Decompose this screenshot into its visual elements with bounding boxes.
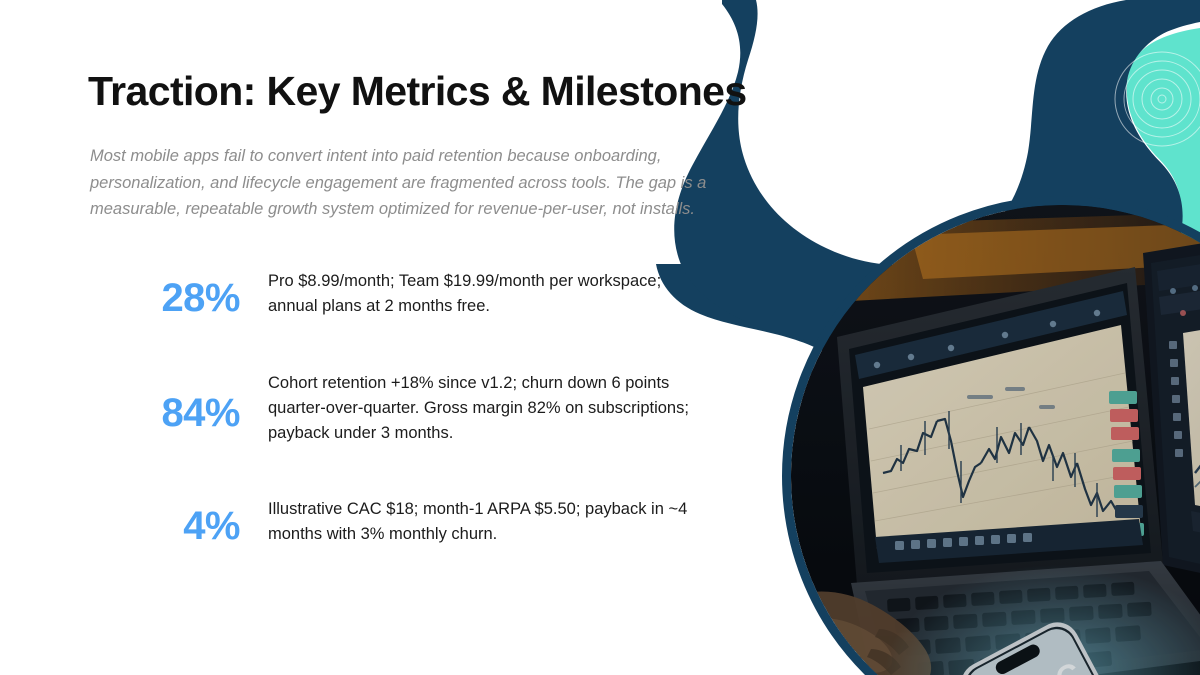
metric-row: 4% Illustrative CAC $18; month-1 ARPA $5… (88, 490, 708, 548)
slide-root: 9:56 (0, 0, 1200, 675)
metric-row: 84% Cohort retention +18% since v1.2; ch… (88, 364, 708, 446)
metric-value: 4% (88, 490, 268, 548)
hero-photo-illustration: 9:56 (791, 205, 1200, 675)
metric-description: Illustrative CAC $18; month-1 ARPA $5.50… (268, 490, 708, 547)
hero-photo-circle: 9:56 (782, 196, 1200, 675)
slide-subtitle: Most mobile apps fail to convert intent … (90, 143, 780, 223)
metric-description: Cohort retention +18% since v1.2; churn … (268, 364, 708, 446)
page-title: Traction: Key Metrics & Milestones (88, 68, 747, 115)
metric-value: 28% (88, 262, 268, 320)
metrics-list: 28% Pro $8.99/month; Team $19.99/month p… (88, 262, 708, 548)
metric-value: 84% (88, 364, 268, 435)
metric-description: Pro $8.99/month; Team $19.99/month per w… (268, 262, 708, 319)
metric-row: 28% Pro $8.99/month; Team $19.99/month p… (88, 262, 708, 320)
concentric-rings-decoration (1115, 52, 1200, 146)
hero-photo-image: 9:56 (791, 205, 1200, 675)
